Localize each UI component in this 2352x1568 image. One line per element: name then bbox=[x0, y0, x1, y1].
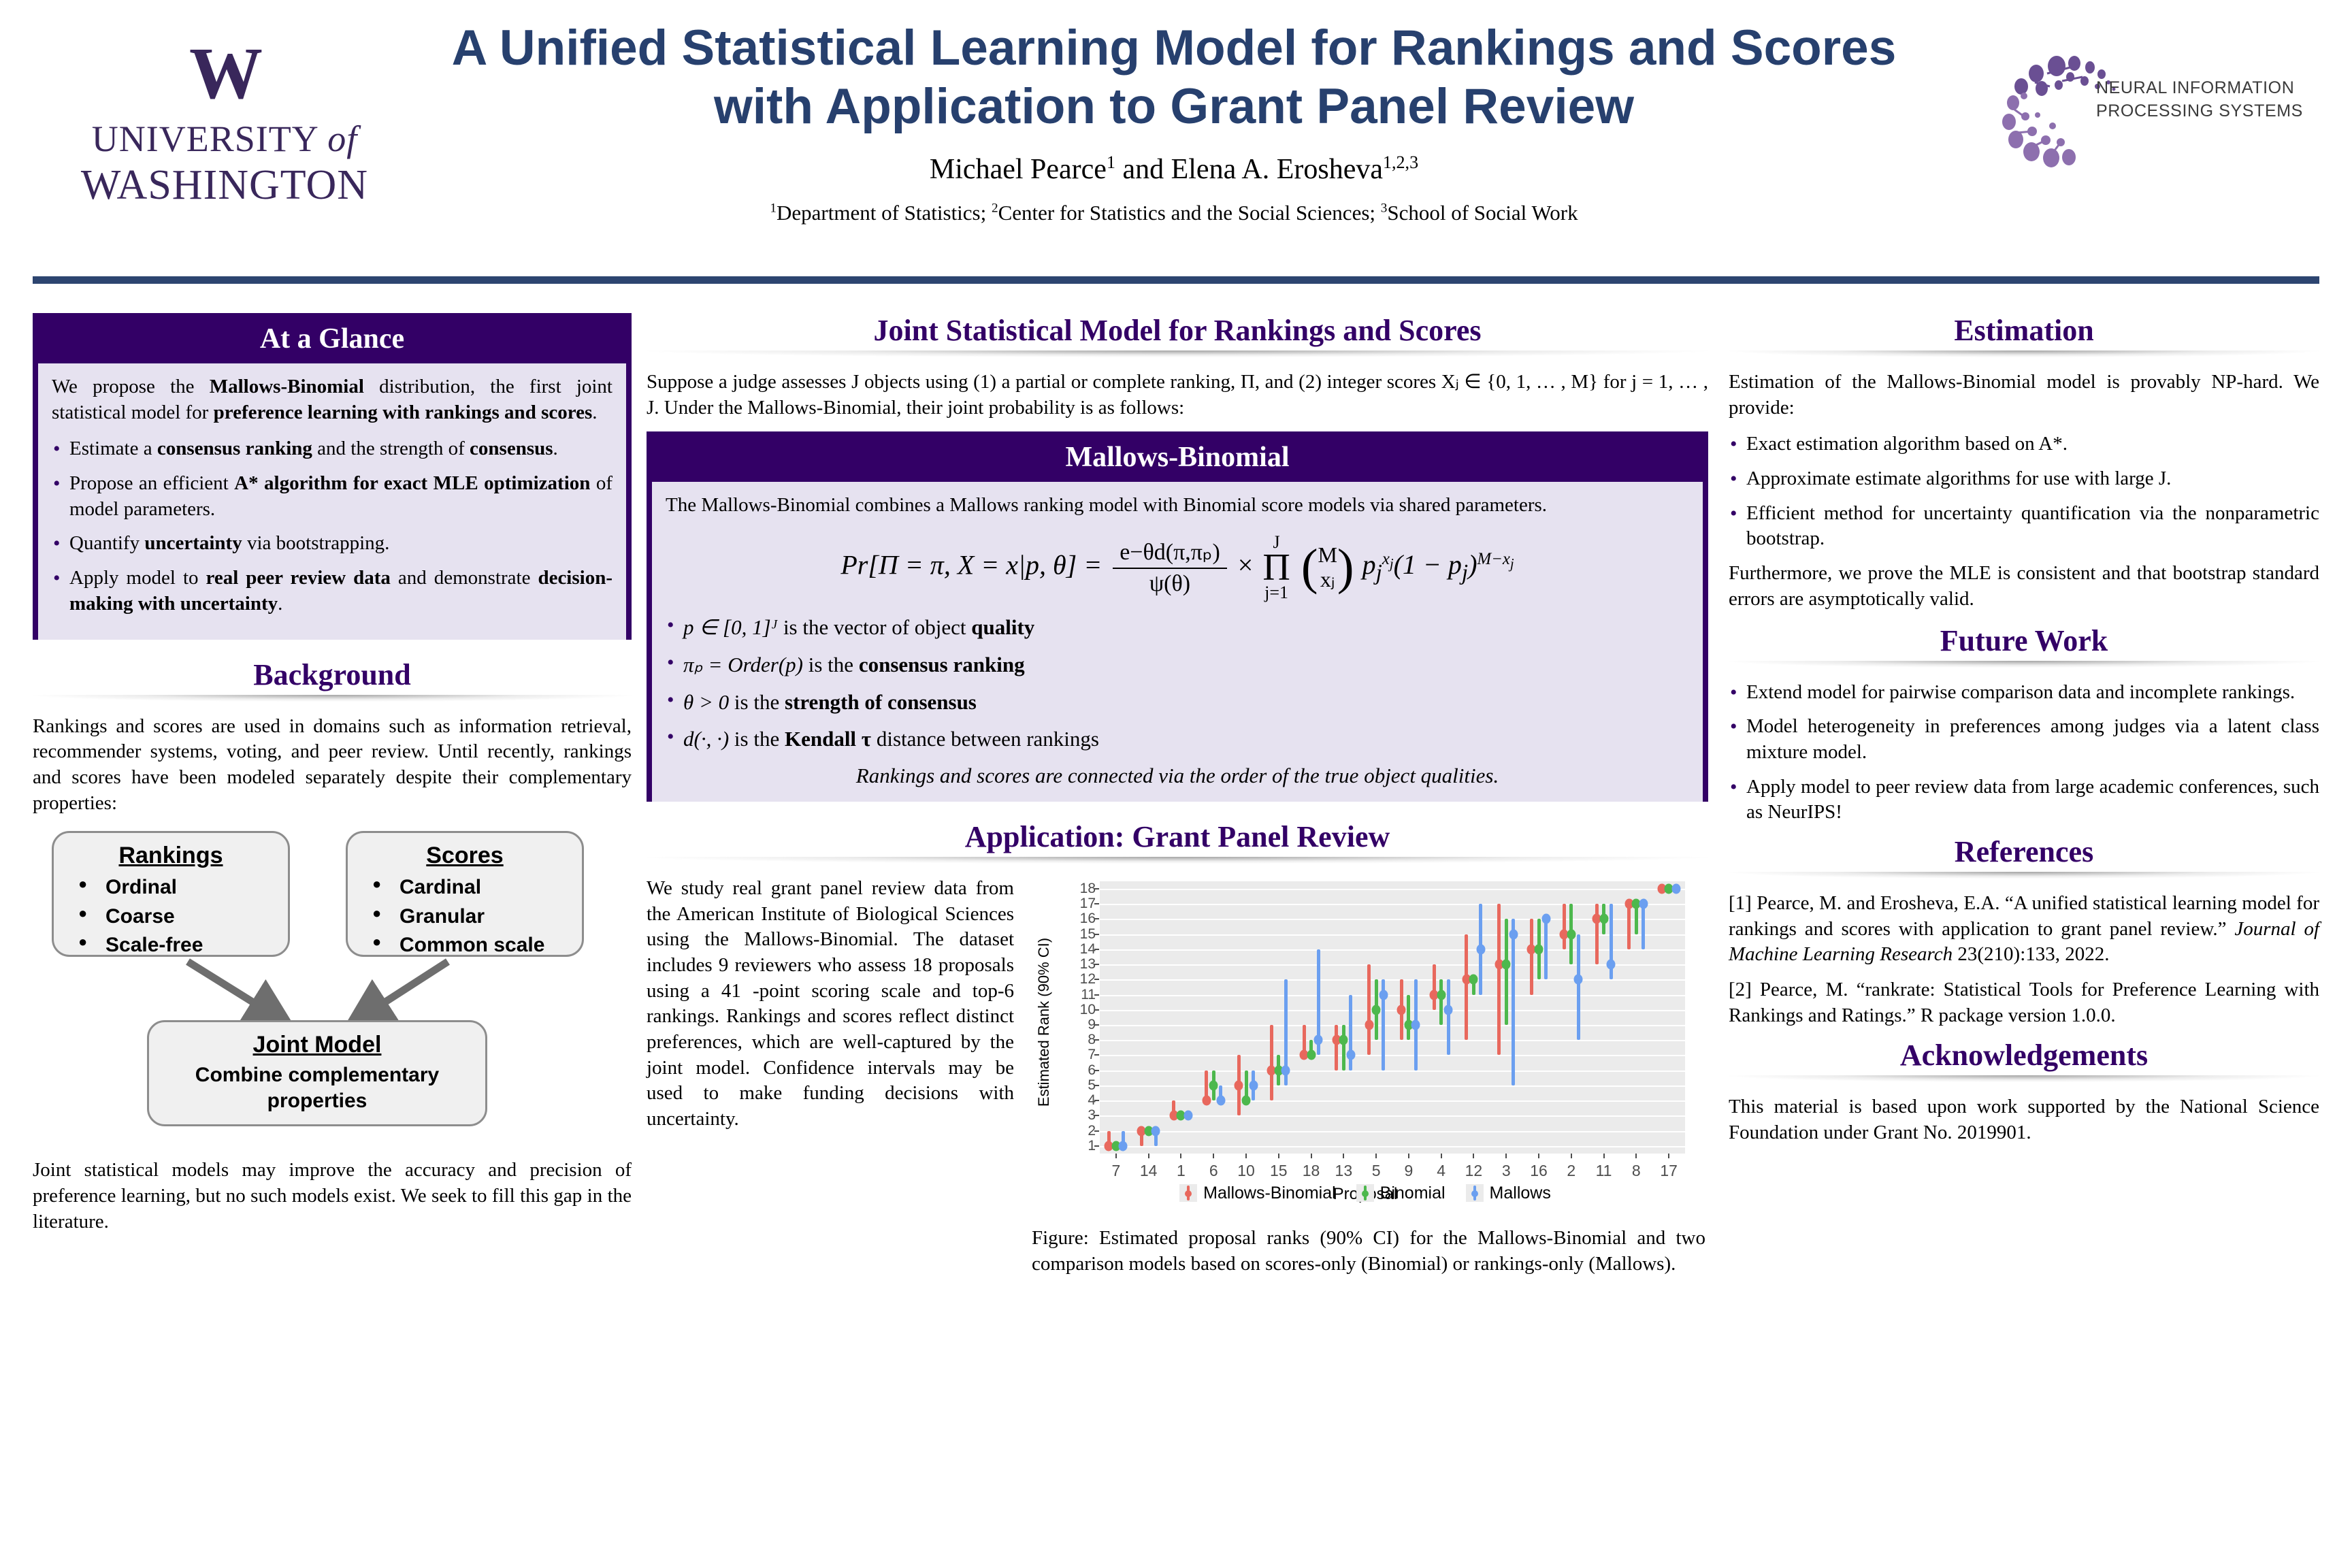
diagram-scores-list: Cardinal Granular Common scale bbox=[348, 873, 582, 968]
diagram-rankings-list: Ordinal Coarse Scale-free bbox=[54, 873, 288, 968]
chart-y-tick-mark bbox=[1094, 1009, 1099, 1011]
chart-x-tick-label: 9 bbox=[1404, 1162, 1413, 1180]
list-item: Efficient method for uncertainty quantif… bbox=[1729, 501, 2319, 552]
chart-x-tick-mark bbox=[1278, 1154, 1279, 1158]
application-title: Application: Grant Panel Review bbox=[647, 819, 1708, 854]
mallows-binomial-emphasis: Rankings and scores are connected via th… bbox=[666, 764, 1689, 788]
mallows-binomial-block: Mallows-Binomial The Mallows-Binomial co… bbox=[647, 431, 1708, 802]
chart-gridline bbox=[1100, 1146, 1685, 1147]
chart-data-point bbox=[1476, 944, 1485, 954]
chart-x-tick-mark bbox=[1115, 1154, 1117, 1158]
chart-y-tick-mark bbox=[1094, 1070, 1099, 1071]
chart-y-tick-mark bbox=[1094, 994, 1099, 996]
mallows-binomial-formula: Pr[Π = π, X = x|p, θ] = e−θd(π,πₚ) ψ(θ) … bbox=[666, 534, 1689, 602]
chart-data-point bbox=[1444, 1004, 1453, 1015]
chart-x-tick-label: 12 bbox=[1465, 1162, 1483, 1180]
application-content: We study real grant panel review data fr… bbox=[647, 876, 1708, 1277]
formula-product-operator: J Π j=1 bbox=[1262, 534, 1290, 602]
chart-data-point bbox=[1535, 944, 1543, 954]
list-item: d(·, ·) is the Kendall τ distance betwee… bbox=[666, 725, 1689, 753]
list-item: Cardinal bbox=[348, 873, 582, 902]
chart-data-point bbox=[1249, 1080, 1258, 1090]
diagram-box-scores: Scores Cardinal Granular Common scale bbox=[346, 831, 584, 957]
chart-legend-item: Binomial bbox=[1356, 1183, 1445, 1203]
application-text: We study real grant panel review data fr… bbox=[647, 876, 1014, 1132]
chart-x-tick-label: 1 bbox=[1177, 1162, 1186, 1180]
chart-y-tick-mark bbox=[1094, 1024, 1099, 1026]
chart-data-point bbox=[1509, 929, 1518, 939]
chart-gridline bbox=[1100, 1010, 1685, 1011]
estimation-bullets: Exact estimation algorithm based on A*. … bbox=[1729, 431, 2319, 552]
chart-confidence-interval-bar bbox=[1627, 904, 1631, 949]
chart-legend: Mallows-BinomialBinomialMallows bbox=[1032, 1183, 1699, 1203]
chart-y-tick-mark bbox=[1094, 903, 1099, 904]
chart-x-tick-label: 17 bbox=[1660, 1162, 1678, 1180]
chart-x-tick-mark bbox=[1213, 1154, 1214, 1158]
chart-x-tick-mark bbox=[1668, 1154, 1669, 1158]
application-separator bbox=[647, 857, 1708, 864]
chart-data-point bbox=[1242, 1096, 1251, 1106]
uw-university-of: UNIVERSITY of bbox=[65, 118, 385, 160]
formula-numerator: e−θd(π,πₚ) bbox=[1113, 538, 1227, 569]
chart-y-tick-mark bbox=[1094, 918, 1099, 919]
chart-legend-key-icon bbox=[1356, 1184, 1374, 1202]
chart-data-point bbox=[1671, 884, 1680, 894]
joint-model-separator bbox=[647, 350, 1708, 357]
chart-data-point bbox=[1209, 1080, 1218, 1090]
chart-confidence-interval-bar bbox=[1335, 1025, 1338, 1071]
chart-x-tick-label: 13 bbox=[1335, 1162, 1353, 1180]
at-a-glance-body: We propose the Mallows-Binomial distribu… bbox=[38, 363, 626, 640]
chart-x-tick-label: 10 bbox=[1237, 1162, 1255, 1180]
joint-model-intro: Suppose a judge assesses J objects using… bbox=[647, 370, 1708, 421]
chart-data-point bbox=[1469, 975, 1478, 985]
list-item: Approximate estimate algorithms for use … bbox=[1729, 466, 2319, 492]
neurips-wordmark: NEURAL INFORMATION PROCESSING SYSTEMS bbox=[2096, 77, 2303, 123]
chart-x-tick-label: 2 bbox=[1567, 1162, 1575, 1180]
chart-y-tick-label: 12 bbox=[1080, 971, 1096, 987]
joint-model-title: Joint Statistical Model for Rankings and… bbox=[647, 313, 1708, 348]
chart-data-point bbox=[1119, 1141, 1128, 1151]
at-a-glance-intro: We propose the Mallows-Binomial distribu… bbox=[52, 374, 612, 425]
chart-confidence-interval-bar bbox=[1447, 979, 1450, 1055]
chart-data-point bbox=[1235, 1080, 1243, 1090]
mallows-binomial-parameter-list: p ∈ [0, 1]ᴶ is the vector of object qual… bbox=[666, 614, 1689, 753]
chart-y-tick-label: 18 bbox=[1080, 881, 1096, 897]
chart-confidence-interval-bar bbox=[1530, 919, 1533, 994]
chart-y-axis-label: Estimated Rank (90% CI) bbox=[1030, 876, 1058, 1169]
uw-w-mark: W bbox=[65, 37, 385, 111]
diagram-box-rankings: Rankings Ordinal Coarse Scale-free bbox=[52, 831, 290, 957]
formula-binomial-coefficient: (Mxⱼ) bbox=[1301, 543, 1354, 592]
list-item: Apply model to peer review data from lar… bbox=[1729, 774, 2319, 826]
chart-y-tick-label: 13 bbox=[1080, 956, 1096, 973]
poster-header: W UNIVERSITY of WASHINGTON A Unified Sta… bbox=[0, 0, 2352, 272]
estimation-intro: Estimation of the Mallows-Binomial model… bbox=[1729, 370, 2319, 421]
chart-x-tick-label: 18 bbox=[1303, 1162, 1320, 1180]
list-item: Apply model to real peer review data and… bbox=[52, 566, 612, 617]
future-work-bullets: Extend model for pairwise comparison dat… bbox=[1729, 680, 2319, 826]
list-item: Propose an efficient A* algorithm for ex… bbox=[52, 471, 612, 522]
at-a-glance-block: At a Glance We propose the Mallows-Binom… bbox=[33, 313, 632, 640]
chart-y-tick-mark bbox=[1094, 1145, 1099, 1147]
chart-y-tick-mark bbox=[1094, 934, 1099, 935]
list-item: Quantify uncertainty via bootstrapping. bbox=[52, 531, 612, 557]
estimated-rank-chart: Estimated Rank (90% CI) 1234567891011121… bbox=[1032, 876, 1699, 1216]
chart-y-tick-mark bbox=[1094, 1100, 1099, 1101]
chart-x-tick-mark bbox=[1180, 1154, 1181, 1158]
chart-y-tick-mark bbox=[1094, 979, 1099, 980]
chart-y-tick-mark bbox=[1094, 888, 1099, 889]
chart-confidence-interval-bar bbox=[1407, 995, 1410, 1041]
title-block: A Unified Statistical Learning Model for… bbox=[408, 19, 1940, 225]
at-a-glance-bullets: Estimate a consensus ranking and the str… bbox=[52, 436, 612, 617]
list-item: p ∈ [0, 1]ᴶ is the vector of object qual… bbox=[666, 614, 1689, 641]
chart-x-tick-mark bbox=[1603, 1154, 1605, 1158]
background-title: Background bbox=[33, 657, 632, 692]
chart-data-point bbox=[1307, 1050, 1316, 1060]
chart-data-point bbox=[1372, 1004, 1381, 1015]
acknowledgements-text: This material is based upon work support… bbox=[1729, 1094, 2319, 1145]
chart-y-tick-label: 11 bbox=[1081, 987, 1096, 1003]
chart-y-tick-mark bbox=[1094, 1054, 1099, 1056]
chart-y-tick-mark bbox=[1094, 1085, 1099, 1086]
mallows-binomial-body: The Mallows-Binomial combines a Mallows … bbox=[652, 482, 1703, 802]
chart-data-point bbox=[1151, 1126, 1160, 1136]
chart-legend-label: Mallows bbox=[1490, 1183, 1551, 1203]
chart-legend-item: Mallows-Binomial bbox=[1179, 1183, 1336, 1203]
list-item: Ordinal bbox=[54, 873, 288, 902]
chart-plot-area: 1234567891011121314151617187141610151813… bbox=[1100, 881, 1685, 1154]
chart-confidence-interval-bar bbox=[1505, 919, 1508, 1025]
formula-lhs: Pr[Π = π, X = x|p, θ] = bbox=[840, 549, 1102, 580]
chart-x-tick-mark bbox=[1148, 1154, 1149, 1158]
uw-washington: WASHINGTON bbox=[65, 161, 385, 210]
chart-y-tick-label: 10 bbox=[1080, 1002, 1096, 1018]
list-item: Model heterogeneity in preferences among… bbox=[1729, 714, 2319, 765]
list-item: θ > 0 is the strength of consensus bbox=[666, 689, 1689, 716]
chart-x-tick-mark bbox=[1343, 1154, 1344, 1158]
list-item: Scale-free bbox=[54, 931, 288, 960]
chart-data-point bbox=[1339, 1035, 1348, 1045]
chart-data-point bbox=[1574, 975, 1583, 985]
list-item: Granular bbox=[348, 902, 582, 932]
figure-caption: Figure: Estimated proposal ranks (90% CI… bbox=[1032, 1226, 1705, 1277]
chart-x-tick-label: 5 bbox=[1372, 1162, 1381, 1180]
mallows-binomial-title: Mallows-Binomial bbox=[647, 431, 1708, 482]
chart-gridline bbox=[1100, 964, 1685, 966]
header-divider bbox=[33, 276, 2319, 284]
chart-y-tick-mark bbox=[1094, 1115, 1099, 1116]
diagram-joint-subtitle: Combine complementary properties bbox=[149, 1062, 485, 1121]
chart-data-point bbox=[1541, 914, 1550, 924]
chart-x-tick-label: 3 bbox=[1502, 1162, 1511, 1180]
chart-confidence-interval-bar bbox=[1465, 934, 1468, 1041]
chart-gridline bbox=[1100, 995, 1685, 996]
formula-tail: pjxj(1 − pj)M−xj bbox=[1362, 549, 1514, 580]
estimation-title: Estimation bbox=[1729, 313, 2319, 348]
chart-x-tick-mark bbox=[1473, 1154, 1474, 1158]
diagram-scores-title: Scores bbox=[348, 833, 582, 873]
chart-gridline bbox=[1100, 889, 1685, 890]
list-item: Coarse bbox=[54, 902, 288, 932]
chart-data-point bbox=[1281, 1065, 1290, 1075]
poster-title-line1: A Unified Statistical Learning Model for… bbox=[408, 19, 1940, 78]
chart-confidence-interval-bar bbox=[1439, 979, 1443, 1025]
list-item: Exact estimation algorithm based on A*. bbox=[1729, 431, 2319, 457]
reference-item-1: [1] Pearce, M. and Erosheva, E.A. “A uni… bbox=[1729, 891, 2319, 968]
chart-gridline bbox=[1100, 1131, 1685, 1132]
chart-data-point bbox=[1639, 899, 1648, 909]
chart-data-point bbox=[1365, 1020, 1373, 1030]
chart-x-tick-label: 15 bbox=[1270, 1162, 1288, 1180]
chart-confidence-interval-bar bbox=[1497, 904, 1501, 1055]
chart-y-tick-mark bbox=[1094, 1039, 1099, 1041]
chart-x-tick-mark bbox=[1635, 1154, 1637, 1158]
acknowledgements-title: Acknowledgements bbox=[1729, 1038, 2319, 1073]
chart-data-point bbox=[1379, 990, 1388, 1000]
figure-wrapper: Estimated Rank (90% CI) 1234567891011121… bbox=[1032, 876, 1705, 1277]
estimation-separator bbox=[1729, 350, 2319, 357]
references-title: References bbox=[1729, 834, 2319, 869]
chart-x-tick-mark bbox=[1571, 1154, 1572, 1158]
poster-title-line2: with Application to Grant Panel Review bbox=[408, 78, 1940, 136]
chart-confidence-interval-bar bbox=[1641, 904, 1645, 949]
chart-confidence-interval-bar bbox=[1544, 919, 1548, 979]
list-item: Extend model for pairwise comparison dat… bbox=[1729, 680, 2319, 706]
chart-data-point bbox=[1216, 1096, 1225, 1106]
chart-y-tick-label: 16 bbox=[1080, 911, 1096, 927]
chart-confidence-interval-bar bbox=[1563, 904, 1566, 949]
formula-fraction: e−θd(π,πₚ) ψ(θ) bbox=[1113, 538, 1227, 597]
list-item: Common scale bbox=[348, 931, 582, 960]
chart-x-tick-mark bbox=[1245, 1154, 1247, 1158]
chart-x-tick-mark bbox=[1311, 1154, 1312, 1158]
chart-data-point bbox=[1599, 914, 1608, 924]
chart-x-tick-mark bbox=[1375, 1154, 1377, 1158]
chart-y-tick-label: 17 bbox=[1080, 896, 1096, 912]
chart-y-tick-mark bbox=[1094, 1130, 1099, 1132]
chart-x-tick-label: 11 bbox=[1596, 1162, 1612, 1180]
formula-denominator: ψ(θ) bbox=[1113, 569, 1227, 597]
chart-data-point bbox=[1437, 990, 1445, 1000]
chart-x-tick-label: 7 bbox=[1111, 1162, 1120, 1180]
chart-y-tick-mark bbox=[1094, 949, 1099, 950]
chart-legend-key-icon bbox=[1179, 1184, 1197, 1202]
poster-root: W UNIVERSITY of WASHINGTON A Unified Sta… bbox=[0, 0, 2352, 1568]
acknowledgements-separator bbox=[1729, 1075, 2319, 1082]
chart-confidence-interval-bar bbox=[1367, 964, 1371, 1055]
chart-y-tick-label: 14 bbox=[1080, 941, 1096, 958]
chart-x-tick-mark bbox=[1441, 1154, 1442, 1158]
chart-confidence-interval-bar bbox=[1433, 964, 1436, 1010]
chart-data-point bbox=[1411, 1020, 1420, 1030]
chart-confidence-interval-bar bbox=[1270, 1025, 1273, 1100]
chart-confidence-interval-bar bbox=[1577, 934, 1580, 1041]
chart-data-point bbox=[1567, 929, 1575, 939]
chart-x-tick-label: 6 bbox=[1209, 1162, 1218, 1180]
background-paragraph-2: Joint statistical models may improve the… bbox=[33, 1158, 632, 1235]
future-work-title: Future Work bbox=[1729, 623, 2319, 658]
chart-confidence-interval-bar bbox=[1595, 904, 1599, 964]
chart-x-tick-mark bbox=[1505, 1154, 1507, 1158]
references-separator bbox=[1729, 872, 2319, 879]
chart-data-point bbox=[1183, 1111, 1192, 1121]
chart-x-tick-label: 14 bbox=[1140, 1162, 1158, 1180]
chart-gridline bbox=[1100, 1071, 1685, 1072]
chart-gridline bbox=[1100, 1100, 1685, 1102]
chart-x-tick-label: 4 bbox=[1437, 1162, 1445, 1180]
at-a-glance-title: At a Glance bbox=[33, 313, 632, 363]
chart-gridline bbox=[1100, 979, 1685, 981]
list-item: Estimate a consensus ranking and the str… bbox=[52, 436, 612, 462]
chart-legend-item: Mallows bbox=[1466, 1183, 1551, 1203]
chart-x-tick-mark bbox=[1408, 1154, 1409, 1158]
left-column: At a Glance We propose the Mallows-Binom… bbox=[33, 313, 632, 1245]
right-column: Estimation Estimation of the Mallows-Bin… bbox=[1729, 313, 2319, 1157]
author-list: Michael Pearce1 and Elena A. Erosheva1,2… bbox=[408, 152, 1940, 186]
background-separator bbox=[33, 695, 632, 702]
affiliations: 1Department of Statistics; 2Center for S… bbox=[408, 201, 1940, 225]
background-diagram: Rankings Ordinal Coarse Scale-free Score… bbox=[33, 828, 632, 1148]
chart-data-point bbox=[1314, 1035, 1323, 1045]
chart-confidence-interval-bar bbox=[1512, 919, 1515, 1085]
uw-logo: W UNIVERSITY of WASHINGTON bbox=[65, 37, 385, 210]
chart-gridline bbox=[1100, 1055, 1685, 1056]
chart-y-tick-mark bbox=[1094, 964, 1099, 965]
chart-legend-key-icon bbox=[1466, 1184, 1484, 1202]
chart-x-tick-mark bbox=[1538, 1154, 1539, 1158]
middle-column: Joint Statistical Model for Rankings and… bbox=[647, 313, 1708, 1277]
chart-data-point bbox=[1397, 1004, 1406, 1015]
chart-gridline bbox=[1100, 1040, 1685, 1041]
list-item: πₚ = Order(p) is the consensus ranking bbox=[666, 651, 1689, 679]
mallows-binomial-intro: The Mallows-Binomial combines a Mallows … bbox=[666, 493, 1689, 519]
chart-data-point bbox=[1346, 1050, 1355, 1060]
chart-x-tick-label: 8 bbox=[1632, 1162, 1641, 1180]
chart-confidence-interval-bar bbox=[1342, 1025, 1345, 1071]
diagram-joint-title: Joint Model bbox=[149, 1022, 485, 1062]
chart-legend-label: Mallows-Binomial bbox=[1203, 1183, 1336, 1203]
chart-data-point bbox=[1502, 960, 1511, 970]
chart-data-point bbox=[1607, 960, 1616, 970]
chart-gridline bbox=[1100, 1025, 1685, 1026]
chart-legend-label: Binomial bbox=[1380, 1183, 1445, 1203]
chart-data-point bbox=[1202, 1096, 1211, 1106]
chart-x-tick-label: 16 bbox=[1530, 1162, 1548, 1180]
background-paragraph-1: Rankings and scores are used in domains … bbox=[33, 714, 632, 817]
diagram-rankings-title: Rankings bbox=[54, 833, 288, 873]
estimation-outro: Furthermore, we prove the MLE is consist… bbox=[1729, 561, 2319, 612]
neurips-logo: NEURAL INFORMATION PROCESSING SYSTEMS bbox=[1994, 51, 2307, 170]
reference-item-2: [2] Pearce, M. “rankrate: Statistical To… bbox=[1729, 977, 2319, 1028]
diagram-box-joint-model: Joint Model Combine complementary proper… bbox=[147, 1020, 487, 1126]
chart-y-tick-label: 15 bbox=[1080, 926, 1096, 943]
future-work-separator bbox=[1729, 661, 2319, 668]
formula-times-symbol: × bbox=[1238, 549, 1254, 580]
chart-gridline bbox=[1100, 1085, 1685, 1087]
